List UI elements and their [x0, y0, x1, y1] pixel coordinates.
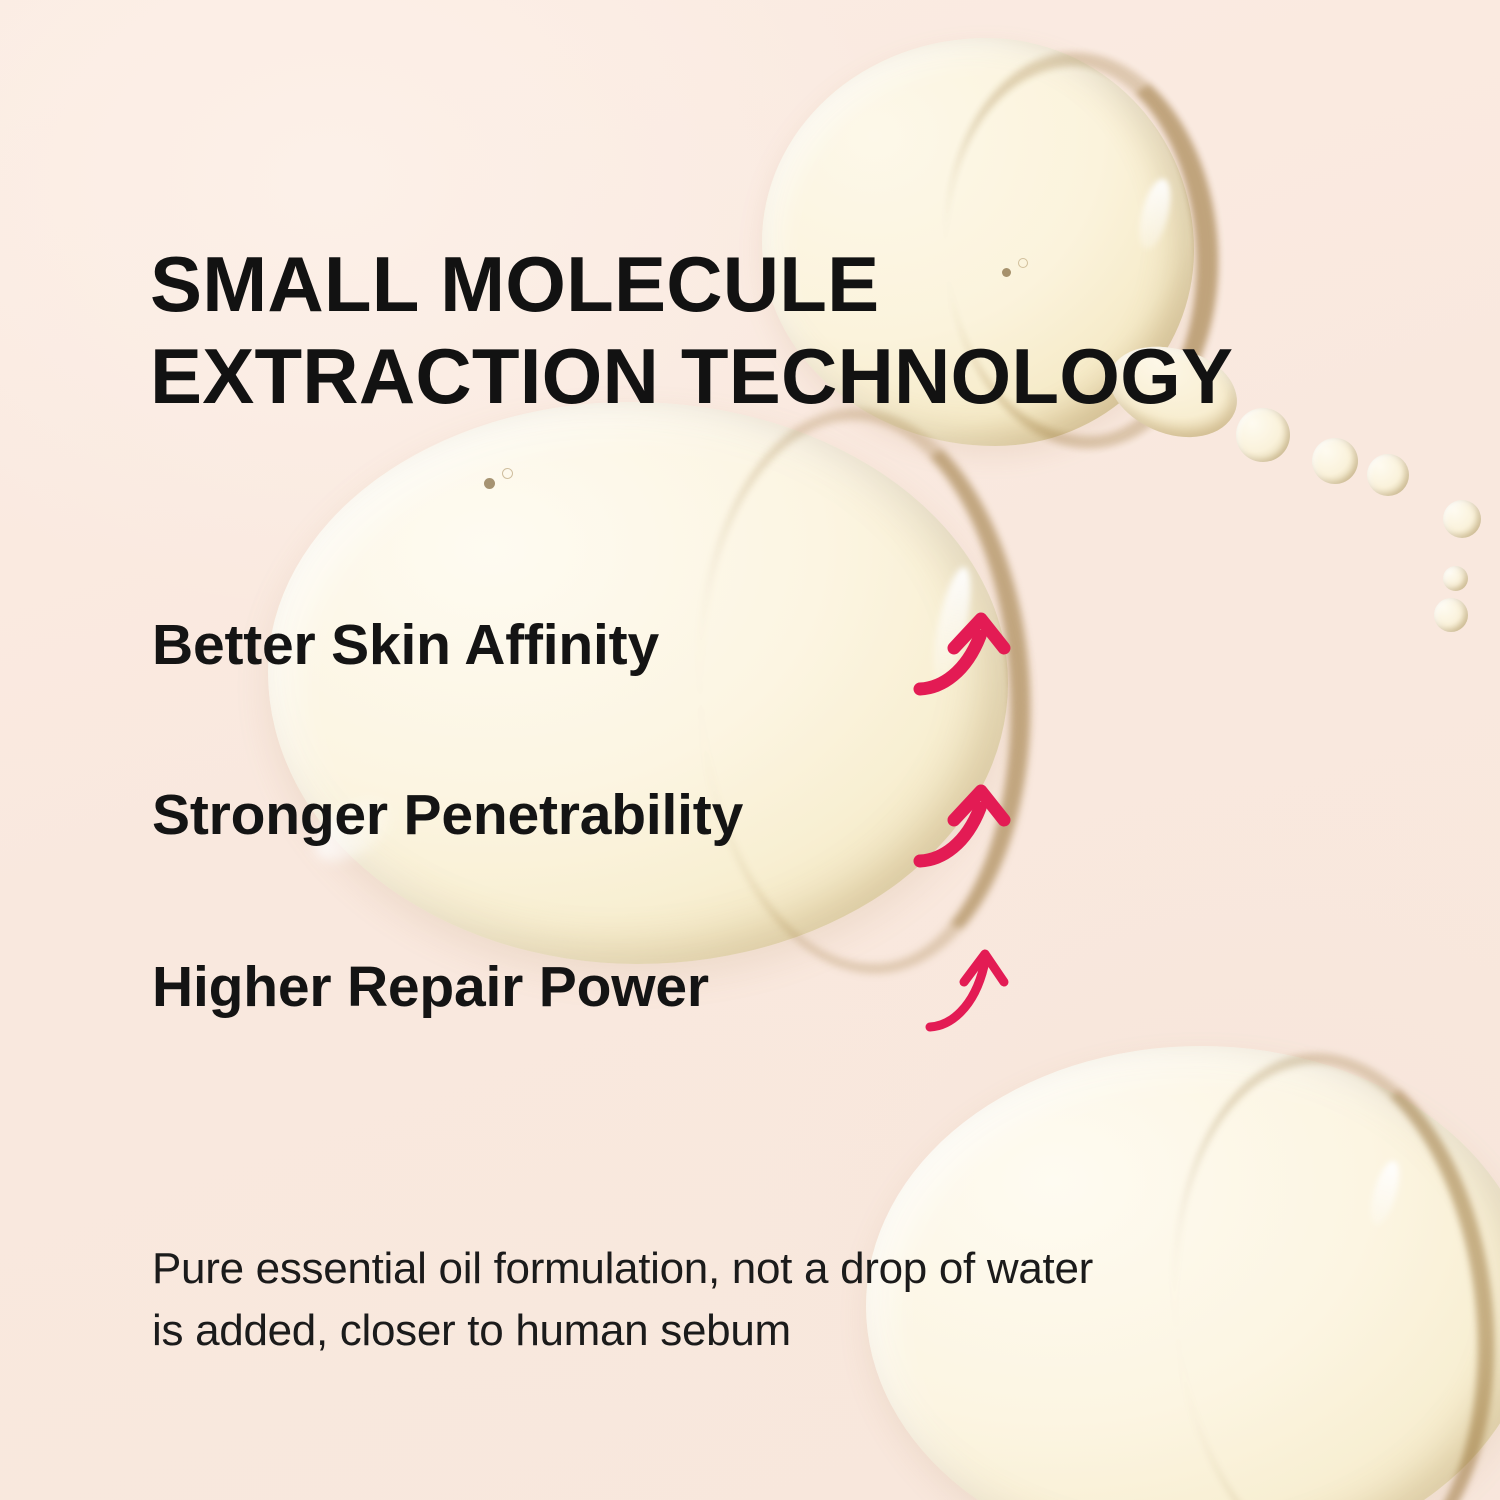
oil-bubble-ring-icon	[502, 468, 513, 479]
footnote-text: Pure essential oil formulation, not a dr…	[152, 1238, 1382, 1363]
curved-up-arrow-icon	[908, 768, 1018, 878]
curved-up-arrow-icon	[908, 596, 1018, 706]
feature-label-higher-repair-power: Higher Repair Power	[152, 954, 709, 1020]
oil-bubble-icon	[1312, 438, 1358, 484]
page-title-line-1: SMALL MOLECULE	[150, 238, 1410, 330]
page-title: SMALL MOLECULE EXTRACTION TECHNOLOGY	[150, 238, 1410, 422]
oil-bubble-icon	[1443, 500, 1481, 538]
product-feature-banner: SMALL MOLECULE EXTRACTION TECHNOLOGY Bet…	[0, 0, 1500, 1500]
footnote-line-2: is added, closer to human sebum	[152, 1300, 1382, 1362]
oil-bubble-icon	[1443, 566, 1468, 591]
oil-speck-icon	[484, 478, 495, 489]
page-title-line-2: EXTRACTION TECHNOLOGY	[150, 330, 1410, 422]
feature-label-stronger-penetrability: Stronger Penetrability	[152, 782, 743, 848]
footnote-line-1: Pure essential oil formulation, not a dr…	[152, 1238, 1382, 1300]
oil-bubble-icon	[1367, 454, 1409, 496]
feature-label-better-skin-affinity: Better Skin Affinity	[152, 612, 659, 678]
curved-up-arrow-icon	[920, 938, 1020, 1043]
oil-bubble-icon	[1434, 598, 1468, 632]
